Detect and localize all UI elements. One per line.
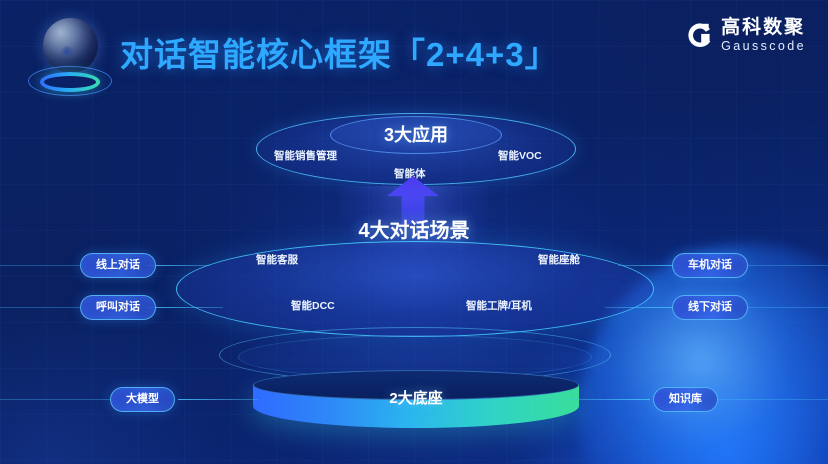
- bottom-layer-heading: 2大底座: [253, 387, 579, 408]
- connector-line-call: [148, 307, 223, 308]
- connector-line-invehicle: [618, 265, 680, 266]
- label-smart-dcc: 智能DCC: [291, 298, 335, 313]
- pill-in-vehicle-dialogue[interactable]: 车机对话: [672, 253, 748, 278]
- label-smart-cockpit: 智能座舱: [538, 252, 580, 267]
- middle-layer-heading: 4大对话场景: [314, 214, 514, 243]
- connector-line-online: [148, 265, 210, 266]
- connector-line-knowledge: [570, 399, 650, 400]
- top-layer-heading: 3大应用: [330, 121, 502, 147]
- label-smart-badge-headset: 智能工牌/耳机: [466, 298, 532, 313]
- label-smart-customer-service: 智能客服: [256, 252, 298, 267]
- middle-layer-ellipse: [176, 241, 654, 337]
- connector-line-llm: [178, 399, 258, 400]
- label-smart-sales-management: 智能销售管理: [274, 148, 337, 163]
- edge-line-left-top: [0, 265, 80, 266]
- edge-line-right-bottom: [718, 399, 828, 400]
- pill-offline-dialogue[interactable]: 线下对话: [672, 295, 748, 320]
- connector-line-offline: [605, 307, 680, 308]
- edge-line-left-bottom: [0, 399, 110, 400]
- edge-line-left-mid: [0, 307, 80, 308]
- pill-online-dialogue[interactable]: 线上对话: [80, 253, 156, 278]
- label-smart-voc: 智能VOC: [498, 148, 542, 163]
- edge-line-right-mid: [748, 307, 828, 308]
- edge-line-right-top: [748, 265, 828, 266]
- slide-canvas: 对话智能核心框架「2+4+3」 高科数聚 Gausscode 3大应用 智能销售…: [0, 0, 828, 464]
- pill-large-model[interactable]: 大模型: [110, 387, 175, 412]
- pill-call-dialogue[interactable]: 呼叫对话: [80, 295, 156, 320]
- pill-knowledge-base[interactable]: 知识库: [653, 387, 718, 412]
- framework-diagram: 3大应用 智能销售管理 智能VOC 智能体 4大对话场景 智能客服 智能座舱 智…: [0, 0, 828, 464]
